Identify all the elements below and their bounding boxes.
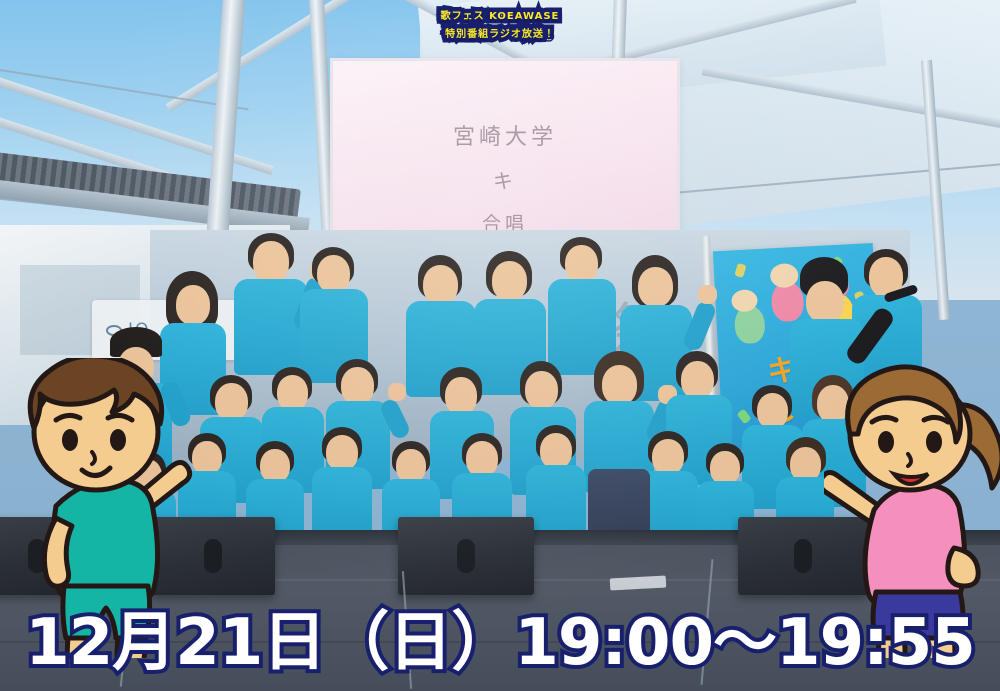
screen-banner-line2: キ (333, 165, 677, 194)
stage-tape (610, 576, 667, 591)
title-block: 歌フェス KOEAWASE 特別番組ラジオ放送！ (0, 12, 1000, 41)
title-line-1: 歌フェス KOEAWASE (0, 12, 1000, 22)
schedule-text: 12月21日（日）19:00～19:55 (25, 591, 975, 683)
title-line-2: 特別番組ラジオ放送！ (0, 30, 1000, 40)
screen-banner: 宮崎大学 キ 合唱 (330, 58, 680, 258)
screen-banner-line1: 宮崎大学 (333, 119, 677, 151)
schedule-block: 12月21日（日）19:00～19:55 (0, 591, 1000, 683)
poster-root: 宮崎大学 キ 合唱 祭 JO み (0, 0, 1000, 691)
stage-monitor (398, 517, 534, 595)
